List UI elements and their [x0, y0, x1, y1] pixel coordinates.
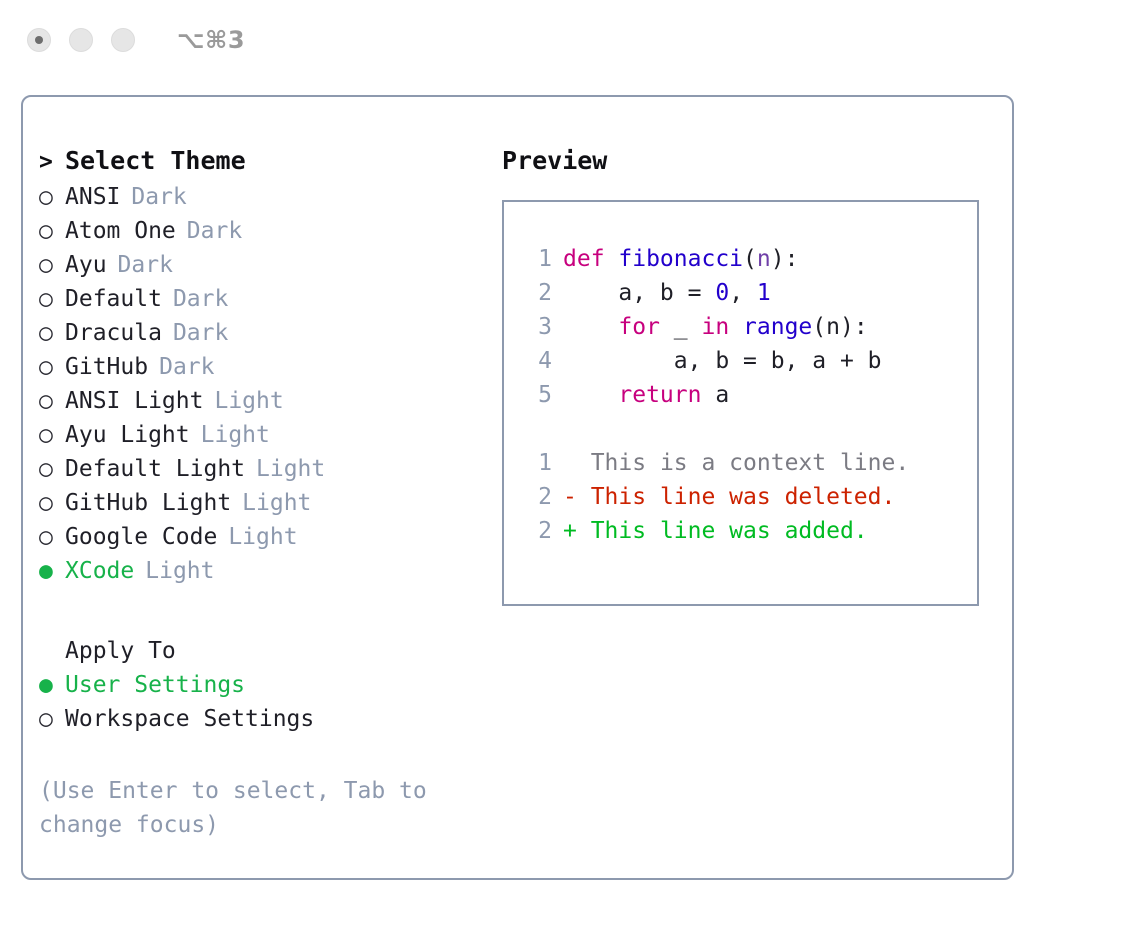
radio-unselected-icon[interactable]: ○ [39, 456, 65, 482]
line-number: 1 [524, 450, 552, 476]
diff-sign: + [563, 518, 577, 544]
select-theme-title: Select Theme [65, 146, 246, 175]
token-fn: fibonacci [618, 246, 743, 272]
theme-name: ANSI Light [65, 388, 203, 414]
line-number: 1 [524, 246, 552, 272]
radio-unselected-icon[interactable]: ○ [39, 320, 65, 346]
line-number: 2 [524, 280, 552, 306]
token-plain: a, b = b, a + b [563, 348, 882, 374]
theme-variant-tag: Light [201, 422, 270, 448]
apply-to-list: ●User Settings○Workspace Settings [39, 672, 489, 740]
apply-to-title: Apply To [39, 638, 489, 672]
theme-name: ANSI [65, 184, 120, 210]
radio-unselected-icon[interactable]: ○ [39, 218, 65, 244]
theme-name: XCode [65, 558, 134, 584]
line-number: 4 [524, 348, 552, 374]
diff-line: 2- This line was deleted. [524, 484, 977, 518]
token-plain: _ [660, 314, 702, 340]
window-dot-active-icon[interactable] [27, 28, 51, 52]
token-plain [563, 314, 618, 340]
diff-text: This is a context line. [577, 450, 909, 476]
token-parm: n [757, 246, 771, 272]
theme-list-item[interactable]: ○Google CodeLight [39, 524, 489, 558]
preview-box: 1def fibonacci(n):2 a, b = 0, 13 for _ i… [502, 200, 979, 606]
radio-unselected-icon[interactable]: ○ [39, 706, 65, 732]
token-kw: for [618, 314, 660, 340]
theme-list-item[interactable]: ○GitHub LightLight [39, 490, 489, 524]
diff-text: This line was deleted. [577, 484, 896, 510]
spacer [39, 592, 489, 638]
theme-list-item[interactable]: ○ANSI LightLight [39, 388, 489, 422]
theme-list-item[interactable]: ○DraculaDark [39, 320, 489, 354]
token-plain [563, 382, 618, 408]
preview-title: Preview [502, 146, 982, 184]
theme-variant-tag: Light [145, 558, 214, 584]
diff-sample: 1 This is a context line.2- This line wa… [524, 450, 977, 552]
radio-selected-icon[interactable]: ● [39, 558, 65, 584]
apply-to-option[interactable]: ○Workspace Settings [39, 706, 489, 740]
theme-variant-tag: Dark [159, 354, 214, 380]
code-line: 3 for _ in range(n): [524, 314, 977, 348]
theme-name: Google Code [65, 524, 217, 550]
code-spacer [524, 416, 977, 450]
token-plain: a [701, 382, 729, 408]
select-theme-header: >Select Theme [39, 146, 489, 184]
code-text: for _ in range(n): [563, 314, 868, 340]
code-line: 2 a, b = 0, 1 [524, 280, 977, 314]
line-number: 5 [524, 382, 552, 408]
diff-line: 1 This is a context line. [524, 450, 977, 484]
line-number: 2 [524, 518, 552, 544]
theme-list-item[interactable]: ●XCodeLight [39, 558, 489, 592]
line-number: 3 [524, 314, 552, 340]
main-panel: >Select Theme ○ANSIDark○Atom OneDark○Ayu… [21, 95, 1014, 880]
radio-unselected-icon[interactable]: ○ [39, 524, 65, 550]
token-plain: (n): [812, 314, 867, 340]
preview-pane: Preview 1def fibonacci(n):2 a, b = 0, 13… [502, 146, 982, 606]
theme-variant-tag: Light [256, 456, 325, 482]
theme-variant-tag: Dark [173, 286, 228, 312]
window-dot-second-icon[interactable] [69, 28, 93, 52]
code-line: 1def fibonacci(n): [524, 246, 977, 280]
window-controls [27, 28, 135, 52]
radio-unselected-icon[interactable]: ○ [39, 490, 65, 516]
token-num: 0 [715, 280, 729, 306]
theme-name: GitHub [65, 354, 148, 380]
token-kw: return [618, 382, 701, 408]
apply-to-label: Workspace Settings [65, 706, 314, 732]
theme-name: GitHub Light [65, 490, 231, 516]
token-plain [729, 314, 743, 340]
theme-list-item[interactable]: ○Atom OneDark [39, 218, 489, 252]
theme-variant-tag: Dark [118, 252, 173, 278]
code-text: def fibonacci(n): [563, 246, 798, 272]
radio-unselected-icon[interactable]: ○ [39, 388, 65, 414]
theme-list: ○ANSIDark○Atom OneDark○AyuDark○DefaultDa… [39, 184, 489, 592]
diff-sign [563, 450, 577, 476]
radio-unselected-icon[interactable]: ○ [39, 422, 65, 448]
window-dot-third-icon[interactable] [111, 28, 135, 52]
theme-name: Ayu [65, 252, 107, 278]
code-line: 5 return a [524, 382, 977, 416]
token-plain: , [729, 280, 757, 306]
token-plain: ): [771, 246, 799, 272]
theme-list-item[interactable]: ○ANSIDark [39, 184, 489, 218]
theme-name: Default Light [65, 456, 245, 482]
theme-variant-tag: Light [242, 490, 311, 516]
theme-selector: >Select Theme ○ANSIDark○Atom OneDark○Ayu… [39, 146, 489, 842]
radio-unselected-icon[interactable]: ○ [39, 354, 65, 380]
theme-list-item[interactable]: ○GitHubDark [39, 354, 489, 388]
apply-to-option[interactable]: ●User Settings [39, 672, 489, 706]
title-bar: ⌥⌘3 [0, 0, 1140, 80]
window-dot-inner [35, 36, 43, 44]
diff-text: This line was added. [577, 518, 868, 544]
keyboard-shortcut-label: ⌥⌘3 [177, 26, 245, 54]
theme-variant-tag: Light [214, 388, 283, 414]
token-plain: ( [743, 246, 757, 272]
theme-list-item[interactable]: ○AyuDark [39, 252, 489, 286]
code-text: return a [563, 382, 729, 408]
theme-variant-tag: Light [228, 524, 297, 550]
radio-unselected-icon[interactable]: ○ [39, 184, 65, 210]
radio-unselected-icon[interactable]: ○ [39, 252, 65, 278]
theme-variant-tag: Dark [187, 218, 242, 244]
code-text: a, b = b, a + b [563, 348, 882, 374]
theme-variant-tag: Dark [173, 320, 228, 346]
radio-unselected-icon[interactable]: ○ [39, 286, 65, 312]
line-number: 2 [524, 484, 552, 510]
radio-selected-icon[interactable]: ● [39, 672, 65, 698]
token-plain: a, b = [563, 280, 715, 306]
code-text: a, b = 0, 1 [563, 280, 771, 306]
token-fn: range [743, 314, 812, 340]
prompt-caret-icon: > [39, 149, 65, 175]
theme-name: Atom One [65, 218, 176, 244]
code-sample: 1def fibonacci(n):2 a, b = 0, 13 for _ i… [524, 246, 977, 416]
theme-name: Default [65, 286, 162, 312]
keyboard-hint: (Use Enter to select, Tab to change focu… [39, 774, 439, 842]
apply-to-label: User Settings [65, 672, 245, 698]
diff-line: 2+ This line was added. [524, 518, 977, 552]
code-line: 4 a, b = b, a + b [524, 348, 977, 382]
diff-sign: - [563, 484, 577, 510]
theme-list-item[interactable]: ○Ayu LightLight [39, 422, 489, 456]
app-window: ⌥⌘3 >Select Theme ○ANSIDark○Atom OneDark… [0, 0, 1140, 934]
theme-variant-tag: Dark [131, 184, 186, 210]
token-kw: in [701, 314, 729, 340]
theme-name: Dracula [65, 320, 162, 346]
theme-name: Ayu Light [65, 422, 190, 448]
theme-list-item[interactable]: ○Default LightLight [39, 456, 489, 490]
token-num: 1 [757, 280, 771, 306]
token-kw: def [563, 246, 618, 272]
theme-list-item[interactable]: ○DefaultDark [39, 286, 489, 320]
